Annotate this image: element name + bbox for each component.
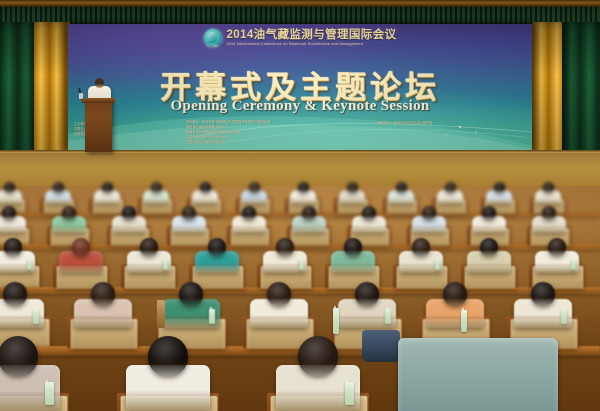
lectern-top xyxy=(82,98,115,103)
audience-member-head xyxy=(148,336,188,376)
lectern-water-glass xyxy=(79,93,83,99)
audience-member-head xyxy=(362,206,376,220)
audience-member-head xyxy=(208,238,226,256)
audience-member-head xyxy=(344,238,362,256)
water-bottle[interactable] xyxy=(333,308,339,334)
audience-member-head xyxy=(445,182,456,193)
audience-member-head xyxy=(4,182,15,193)
audience-member-head xyxy=(302,206,316,220)
water-bottle[interactable] xyxy=(571,259,576,270)
audience-member-head xyxy=(267,282,291,306)
audience-member-head xyxy=(347,182,358,193)
audience-member-head xyxy=(542,206,556,220)
audience-member-head xyxy=(91,282,115,306)
audience-member-head xyxy=(482,206,496,220)
water-bottle[interactable] xyxy=(45,382,54,406)
audience-member-head xyxy=(412,238,430,256)
audience-member-head xyxy=(182,206,196,220)
water-bottle[interactable] xyxy=(345,382,354,406)
audience-member-head xyxy=(151,182,162,193)
projection-screen-banner: IC SM 2014油气藏监测与管理国际会议 2014 Internationa… xyxy=(68,24,532,150)
audience-member-head xyxy=(0,336,38,376)
screen-vignette xyxy=(68,24,532,150)
audience-member-head xyxy=(102,182,113,193)
audience-member-head xyxy=(242,206,256,220)
audience-member-head xyxy=(62,206,76,220)
thermos-flask[interactable] xyxy=(157,300,165,328)
audience-member-head xyxy=(355,282,379,306)
audience-member-head xyxy=(298,182,309,193)
audience-member-head xyxy=(200,182,211,193)
water-bottle[interactable] xyxy=(209,309,215,323)
water-bottle[interactable] xyxy=(33,309,39,323)
audience-member-head xyxy=(179,282,203,306)
ceiling-light-strip xyxy=(0,0,600,7)
audience-member-head xyxy=(140,238,158,256)
shoulder-bag[interactable] xyxy=(362,330,400,362)
audience-member-head xyxy=(2,206,16,220)
audience-member-head xyxy=(531,282,555,306)
audience-member-head xyxy=(298,336,338,376)
audience-seating-area xyxy=(0,186,600,411)
water-bottle[interactable] xyxy=(435,259,440,270)
jacket-on-chair[interactable] xyxy=(398,338,558,411)
audience-member-head xyxy=(249,182,260,193)
wooden-lectern xyxy=(85,100,112,152)
audience-member-head xyxy=(53,182,64,193)
audience-member-head xyxy=(494,182,505,193)
audience-member-head xyxy=(4,238,22,256)
audience-member-head xyxy=(422,206,436,220)
audience-member-head xyxy=(480,238,498,256)
audience-member-head xyxy=(548,238,566,256)
water-bottle[interactable] xyxy=(163,259,168,270)
audience-member-head xyxy=(543,182,554,193)
audience-member-head xyxy=(3,282,27,306)
audience-member-head xyxy=(396,182,407,193)
water-bottle[interactable] xyxy=(561,309,567,323)
water-bottle[interactable] xyxy=(299,259,304,270)
water-bottle[interactable] xyxy=(461,310,467,332)
audience-member-head xyxy=(443,282,467,306)
water-bottle[interactable] xyxy=(385,309,391,323)
audience-member-head xyxy=(122,206,136,220)
speaker-head xyxy=(95,78,104,88)
audience-member-head xyxy=(72,238,90,256)
conference-hall-photo: IC SM 2014油气藏监测与管理国际会议 2014 Internationa… xyxy=(0,0,600,411)
audience-member-head xyxy=(276,238,294,256)
water-bottle[interactable] xyxy=(27,259,32,270)
